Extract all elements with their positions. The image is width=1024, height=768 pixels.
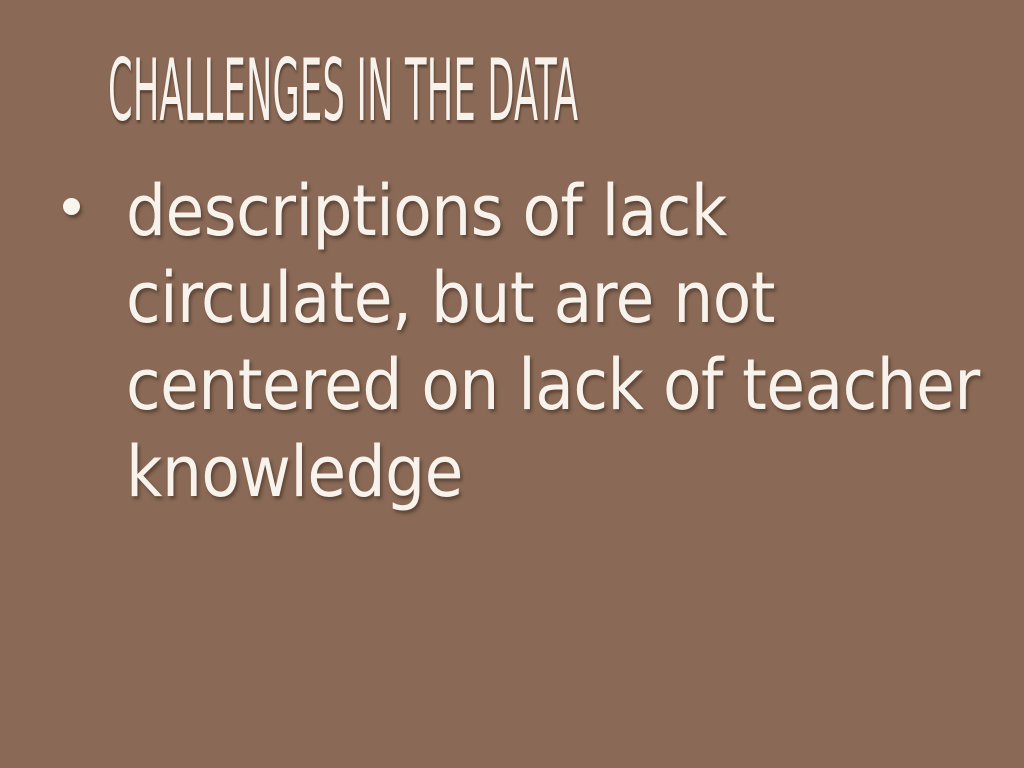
page-title: CHALLENGES IN THE DATA [108, 48, 499, 134]
presentation-slide: CHALLENGES IN THE DATA descriptions of l… [0, 0, 1024, 768]
bullet-dot-icon [63, 198, 80, 215]
slide-body: descriptions of lack circulate, but are … [48, 168, 988, 516]
list-item-label: descriptions of lack circulate, but are … [126, 168, 988, 516]
list-item: descriptions of lack circulate, but are … [48, 168, 988, 516]
